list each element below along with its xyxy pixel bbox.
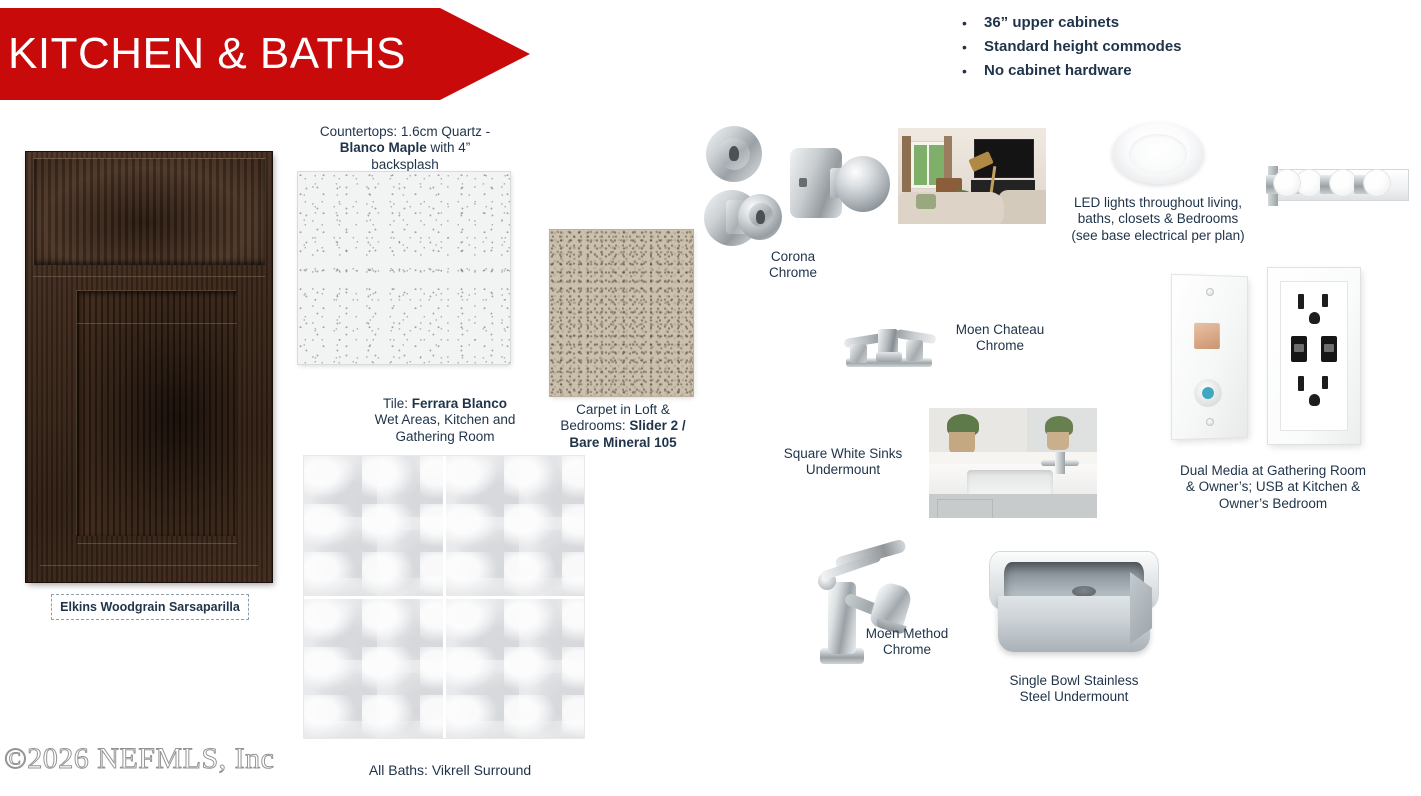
tile-swatch xyxy=(446,456,585,596)
bullet-text: No cabinet hardware xyxy=(984,61,1132,81)
page-title-banner: KITCHEN & BATHS xyxy=(0,8,530,100)
countertop-caption-line2-rest: with 4” xyxy=(427,140,471,155)
photo-curtain-left xyxy=(902,136,911,192)
passage-door-knob xyxy=(790,142,880,226)
cabinet-panel-bottom-rail xyxy=(77,543,237,544)
page-title: KITCHEN & BATHS xyxy=(0,29,406,79)
outlet-slot xyxy=(1322,294,1328,307)
cabinet-door-front xyxy=(33,276,265,574)
dual-media-wall-plate xyxy=(1172,275,1247,439)
cabinet-panel-top-rail xyxy=(77,291,237,324)
media-caption-line2: & Owner’s; USB at Kitchen & xyxy=(1186,479,1360,494)
copyright-watermark: ©2026 NEFMLS, Inc xyxy=(4,742,274,776)
faucet-handle-base-right xyxy=(906,340,923,361)
usb-port-icon xyxy=(1291,336,1307,362)
method-caption: Moen Method Chrome xyxy=(848,626,966,659)
knob-ball xyxy=(836,156,890,212)
led-disc-light-icon xyxy=(1112,122,1204,184)
carpet-caption-line1: Carpet in Loft & xyxy=(576,402,670,417)
bullet-text: Standard height commodes xyxy=(984,37,1182,57)
outlet-ground-slot xyxy=(1309,312,1320,324)
power-receptacle-top xyxy=(1289,290,1339,332)
tile-caption: Tile: Ferrara Blanco Wet Areas, Kitchen … xyxy=(362,396,528,445)
light-bulb-icon xyxy=(1274,170,1300,196)
light-bulb-icon xyxy=(1330,170,1356,196)
power-receptacle-bottom xyxy=(1289,372,1339,414)
photo-sofa xyxy=(898,192,1004,224)
method-caption-line2: Chrome xyxy=(883,642,931,657)
outlet-slot xyxy=(1298,376,1304,391)
usb-outlet-wall-plate xyxy=(1268,268,1360,444)
led-caption-line2: baths, closets & Bedrooms xyxy=(1078,211,1239,226)
carpet-swatch xyxy=(550,230,693,396)
led-caption-line1: LED lights throughout living, xyxy=(1074,195,1242,210)
sinks-caption-line1: Square White Sinks xyxy=(784,446,903,461)
tile-swatch xyxy=(446,599,585,739)
chateau-caption: Moen Chateau Chrome xyxy=(940,322,1060,355)
carpet-caption-line2-prefix: Bedrooms: xyxy=(560,418,629,433)
media-caption-line1: Dual Media at Gathering Room xyxy=(1180,463,1366,478)
photo-vanity-cabinet xyxy=(929,494,1097,518)
sinks-caption: Square White Sinks Undermount xyxy=(782,446,904,479)
carpet-caption: Carpet in Loft & Bedrooms: Slider 2 / Ba… xyxy=(552,402,694,451)
led-lens xyxy=(1129,134,1187,174)
tile-swatch xyxy=(304,456,443,596)
screw-icon xyxy=(1206,418,1214,426)
outlet-ground-slot xyxy=(1309,394,1320,406)
bathroom-vanity-photo xyxy=(929,408,1097,518)
cabinet-drawer-front xyxy=(33,158,265,265)
sink-caption-line2: Steel Undermount xyxy=(1020,689,1129,704)
chateau-caption-line1: Moen Chateau xyxy=(956,322,1045,337)
cabinet-foot-rail xyxy=(40,565,258,566)
media-caption: Dual Media at Gathering Room & Owner’s; … xyxy=(1164,463,1382,512)
cabinet-center-panel xyxy=(77,291,237,536)
media-caption-line3: Owner’s Bedroom xyxy=(1219,496,1327,511)
vanity-light-bar xyxy=(1268,158,1408,210)
spec-bullet-list: • 36” upper cabinets • Standard height c… xyxy=(962,13,1382,85)
outlet-slot xyxy=(1298,294,1304,309)
photo-faucet-body xyxy=(1055,452,1065,474)
list-item: • No cabinet hardware xyxy=(962,61,1382,81)
countertop-caption-line3: backsplash xyxy=(371,157,439,172)
tile-swatch xyxy=(304,599,443,739)
bullet-text: 36” upper cabinets xyxy=(984,13,1119,33)
tile-caption-prefix: Tile: xyxy=(383,396,412,411)
faucet-spout-tip xyxy=(876,352,902,362)
countertop-caption: Countertops: 1.6cm Quartz - Blanco Maple… xyxy=(300,124,510,173)
sinks-caption-line2: Undermount xyxy=(806,462,880,477)
countertop-material-name: Blanco Maple xyxy=(340,140,427,155)
carpet-style-name: Slider 2 / xyxy=(629,418,685,433)
bullet-icon: • xyxy=(962,37,984,57)
photo-plant-pot xyxy=(1047,432,1069,450)
tile-caption-line2: Wet Areas, Kitchen and xyxy=(375,412,516,427)
photo-pillow xyxy=(916,194,936,209)
quartz-countertop-swatch xyxy=(298,172,510,364)
list-item: • Standard height commodes xyxy=(962,37,1382,57)
tile-material-name: Ferrara Blanco xyxy=(412,396,507,411)
moen-chateau-faucet xyxy=(842,318,937,374)
photo-sofa-right xyxy=(998,190,1046,224)
coax-jack-icon xyxy=(1194,379,1222,407)
stainless-steel-sink xyxy=(990,552,1158,660)
door-hardware-caption: Corona Chrome xyxy=(740,249,846,282)
list-item: • 36” upper cabinets xyxy=(962,13,1382,33)
bullet-icon: • xyxy=(962,61,984,81)
keyhole-icon xyxy=(729,146,739,161)
screw-icon xyxy=(1206,288,1214,296)
bullet-icon: • xyxy=(962,13,984,33)
usb-port-icon xyxy=(1321,336,1337,362)
countertop-caption-line1: Countertops: 1.6cm Quartz - xyxy=(320,124,490,139)
outlet-face xyxy=(1281,282,1347,430)
sink-caption: Single Bowl Stainless Steel Undermount xyxy=(1004,673,1144,706)
method-caption-line1: Moen Method xyxy=(866,626,949,641)
light-bulb-icon xyxy=(1364,170,1390,196)
led-caption-line3: (see base electrical per plan) xyxy=(1071,228,1244,243)
corona-caption-line2: Chrome xyxy=(769,265,817,280)
sink-caption-line1: Single Bowl Stainless xyxy=(1009,673,1138,688)
led-caption: LED lights throughout living, baths, clo… xyxy=(1058,195,1258,244)
corona-caption-line1: Corona xyxy=(771,249,815,264)
carpet-color-name: Bare Mineral 105 xyxy=(569,435,676,450)
ethernet-jack-icon xyxy=(1194,323,1220,349)
keyhole-icon xyxy=(756,210,765,224)
keyed-knob-lock xyxy=(704,186,782,248)
faucet-handle-base-left xyxy=(850,344,867,363)
cabinet-door-sample xyxy=(26,152,272,582)
cabinet-finish-label: Elkins Woodgrain Sarsaparilla xyxy=(51,594,249,620)
tile-caption-line3: Gathering Room xyxy=(395,429,494,444)
chateau-caption-line2: Chrome xyxy=(976,338,1024,353)
sink-front-panel xyxy=(998,596,1150,652)
vikrell-caption: All Baths: Vikrell Surround xyxy=(350,762,550,779)
tile-swatch-grid xyxy=(304,456,584,738)
living-room-photo xyxy=(898,128,1046,224)
photo-plant-pot xyxy=(949,432,975,454)
deadbolt-lock-icon xyxy=(706,126,762,182)
outlet-slot xyxy=(1322,376,1328,389)
